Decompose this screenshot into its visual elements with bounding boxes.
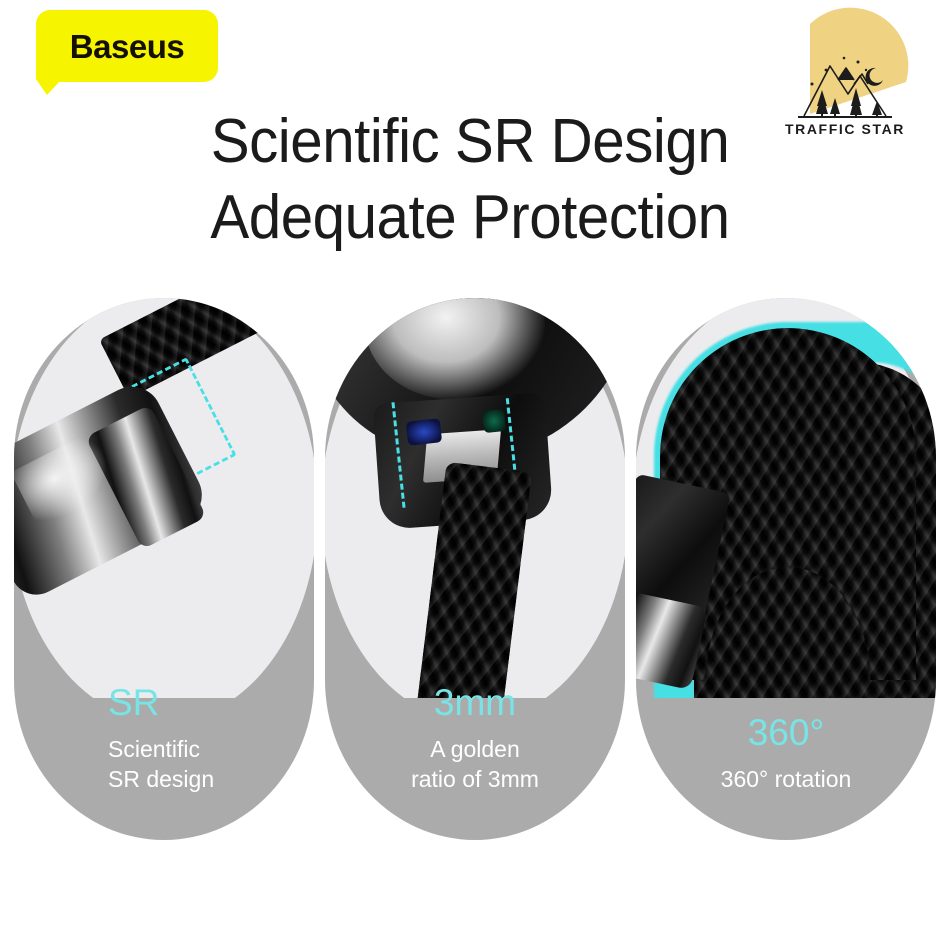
panel-subtitle-line-2: ratio of 3mm bbox=[343, 764, 607, 794]
indicator-led-blue bbox=[406, 418, 442, 445]
product-feature-graphic: Baseus bbox=[0, 0, 940, 940]
feature-panel-row: SR Scientific SR design bbox=[14, 298, 936, 840]
panel-subtitle-line-1: 360° rotation bbox=[654, 764, 918, 794]
indicator-led-green bbox=[482, 409, 506, 433]
panel-caption-3mm: 3mm A golden ratio of 3mm bbox=[325, 682, 625, 794]
brand-name: Baseus bbox=[70, 30, 184, 63]
panel-title: 360° bbox=[654, 712, 918, 754]
connector-strain-relief-photo bbox=[14, 298, 314, 698]
panel-subtitle-line-1: A golden bbox=[343, 734, 607, 764]
headline-block: Scientific SR Design Adequate Protection bbox=[0, 104, 940, 256]
panel-caption-sr: SR Scientific SR design bbox=[14, 682, 314, 794]
headline-line-1: Scientific SR Design bbox=[28, 104, 912, 180]
cable-bend-illustration bbox=[636, 298, 936, 698]
connector-illustration bbox=[325, 298, 625, 698]
sun-semicircle-icon bbox=[810, 8, 908, 114]
connector-3mm-band-photo bbox=[325, 298, 625, 698]
panel-caption-360: 360° 360° rotation bbox=[636, 712, 936, 794]
braided-cable bbox=[99, 298, 314, 398]
headline-line-2: Adequate Protection bbox=[28, 180, 912, 256]
panel-title: 3mm bbox=[343, 682, 607, 724]
connector-illustration bbox=[14, 298, 314, 698]
feature-panel-3mm: 3mm A golden ratio of 3mm bbox=[325, 298, 625, 840]
panel-title: SR bbox=[108, 682, 296, 724]
baseus-logo-badge: Baseus bbox=[36, 10, 218, 82]
panel-subtitle-line-2: SR design bbox=[108, 764, 296, 794]
feature-panel-sr: SR Scientific SR design bbox=[14, 298, 314, 840]
panel-subtitle-line-1: Scientific bbox=[108, 734, 296, 764]
badge-tail-icon bbox=[36, 79, 62, 95]
cable-bend-rotation-photo bbox=[636, 298, 936, 698]
feature-panel-360: 360° 360° rotation bbox=[636, 298, 936, 840]
